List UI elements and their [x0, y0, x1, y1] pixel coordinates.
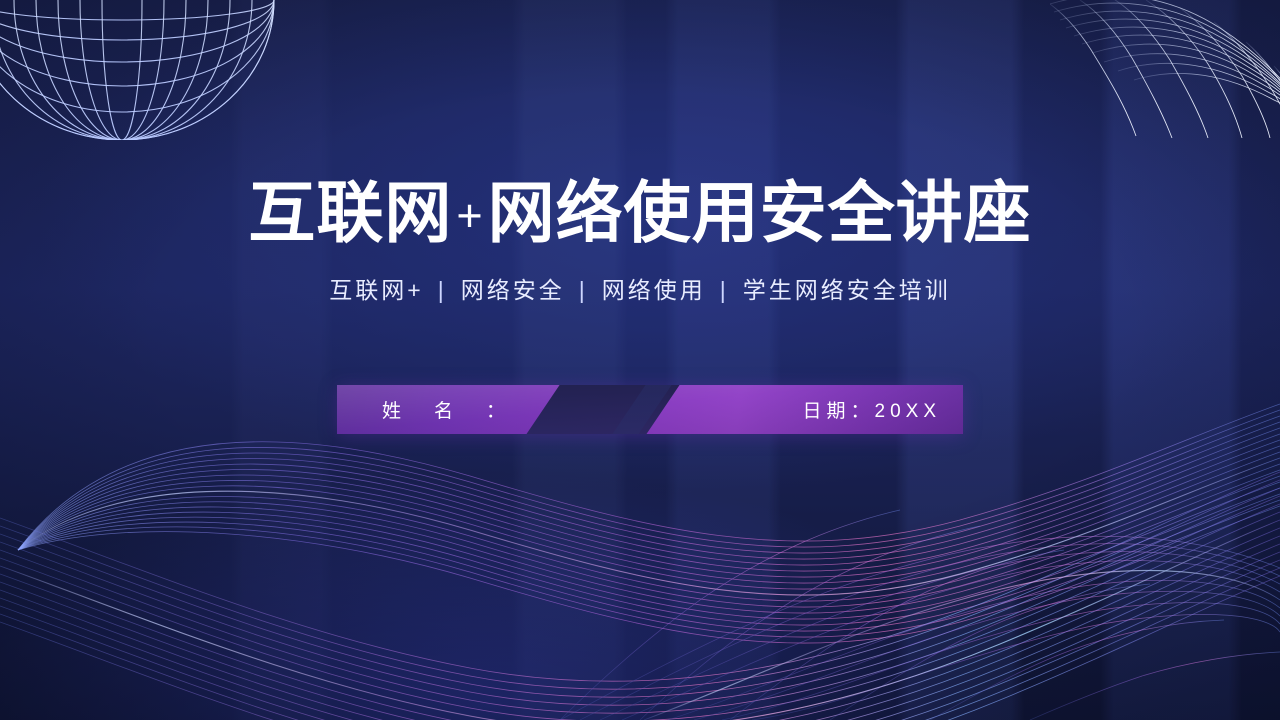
subtitle-item-0: 互联网+ — [329, 277, 423, 303]
title-block: 互联网+网络使用安全讲座 互联网+|网络安全|网络使用|学生网络安全培训 — [0, 178, 1280, 305]
presenter-name-label: 姓 名 ： — [382, 385, 512, 434]
subtitle-item-1: 网络安全 — [461, 277, 565, 303]
title-prefix: 互联网 — [248, 176, 452, 251]
subtitle: 互联网+|网络安全|网络使用|学生网络安全培训 — [0, 271, 1280, 305]
subtitle-separator: | — [424, 277, 461, 304]
presenter-info-banner: 姓 名 ： 日期：20XX — [337, 385, 963, 434]
subtitle-item-3: 学生网络安全培训 — [743, 277, 951, 303]
presentation-date-label: 日期：20XX — [803, 385, 941, 434]
title-slide: 互联网+网络使用安全讲座 互联网+|网络安全|网络使用|学生网络安全培训 姓 名… — [0, 0, 1280, 720]
page-title: 互联网+网络使用安全讲座 — [0, 178, 1280, 249]
subtitle-separator: | — [565, 277, 602, 304]
title-plus-symbol: + — [452, 190, 487, 241]
title-suffix: 网络使用安全讲座 — [488, 176, 1032, 251]
subtitle-item-2: 网络使用 — [602, 277, 706, 303]
subtitle-separator: | — [706, 277, 743, 304]
background-vignette — [0, 0, 1280, 720]
